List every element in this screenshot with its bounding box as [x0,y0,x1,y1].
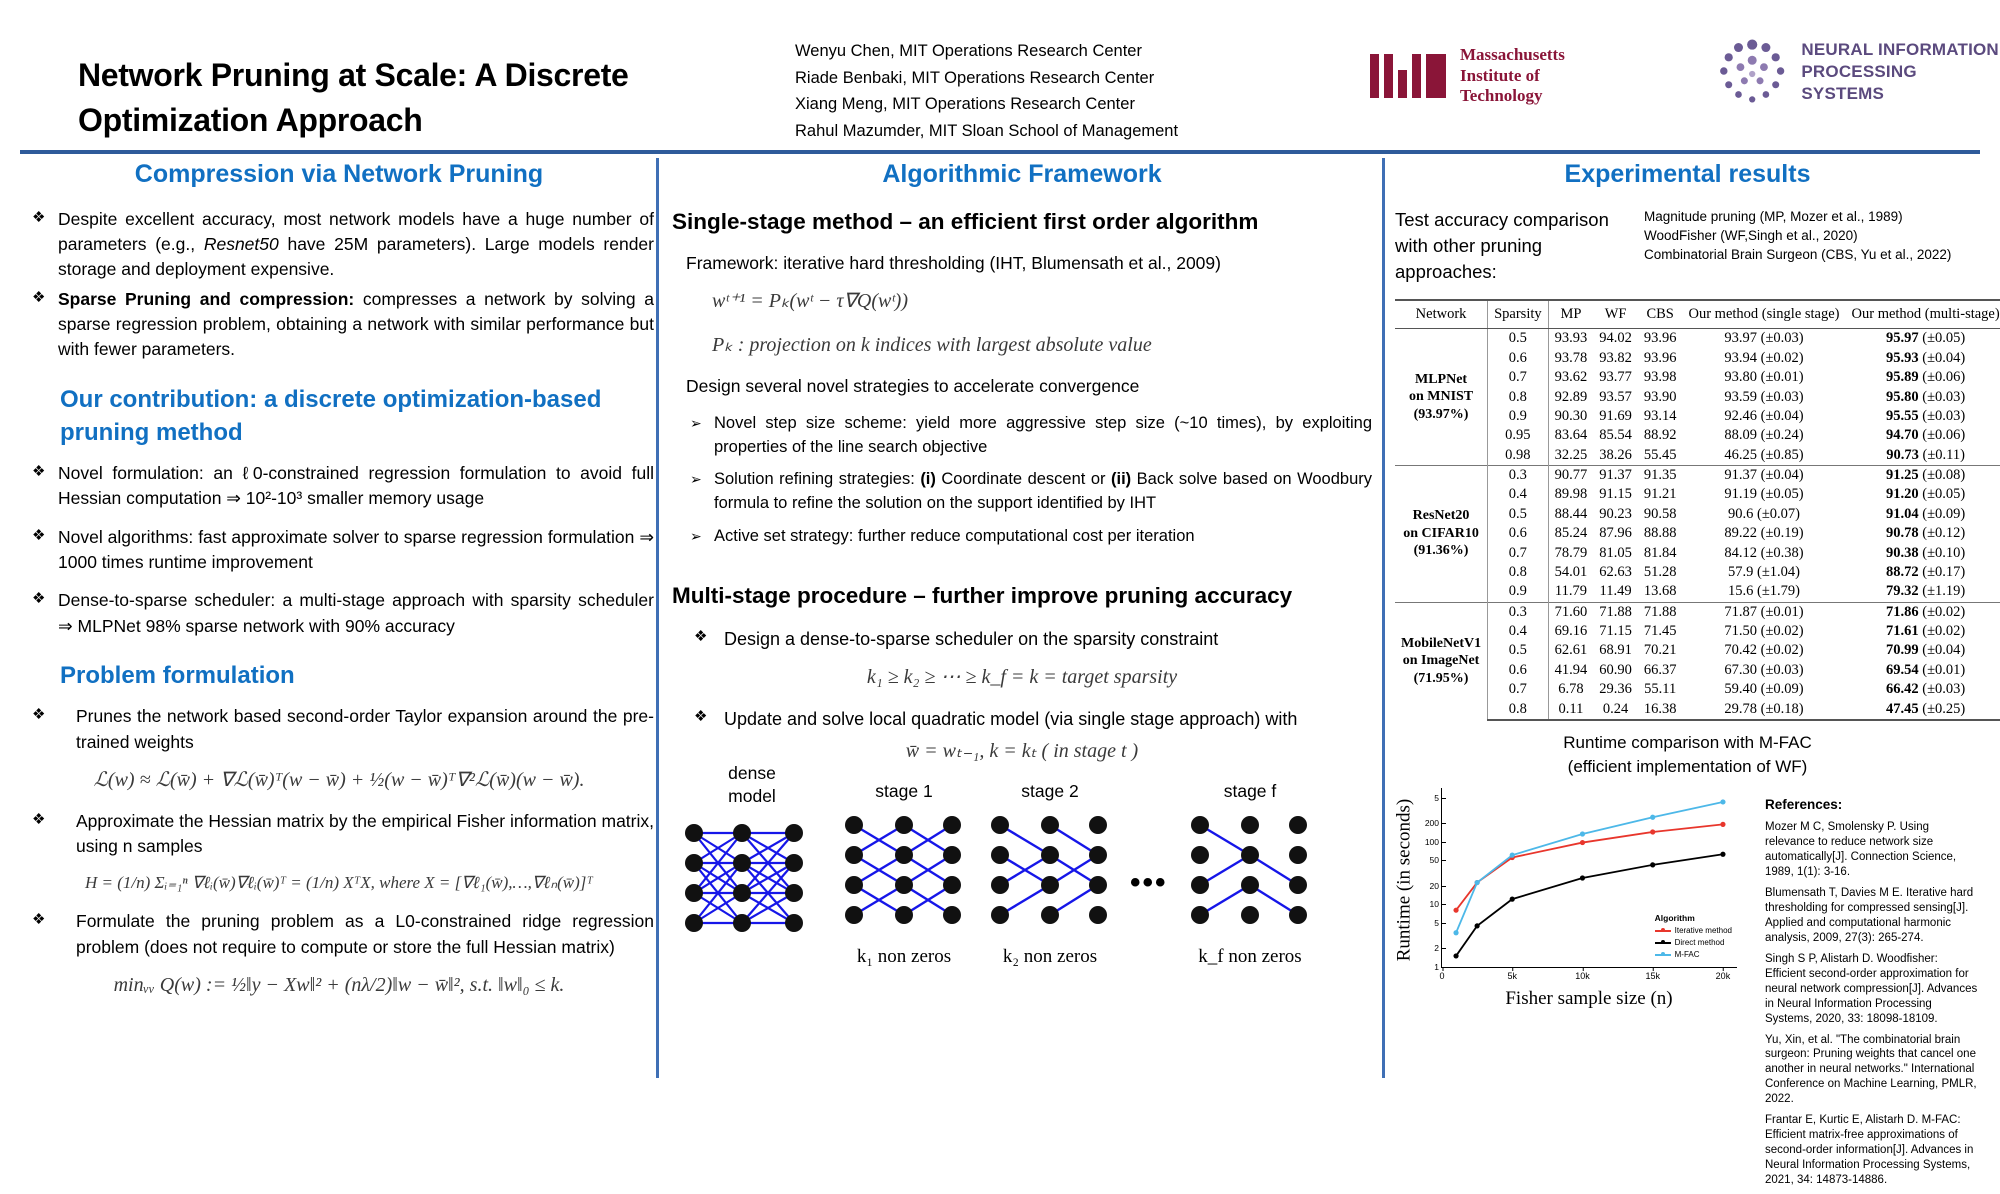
table-cell: 70.21 [1638,641,1683,660]
table-cell: 93.90 [1638,387,1683,406]
contribution-heading: Our contribution: a discrete optimizatio… [24,383,654,449]
list-item: Dense-to-sparse scheduler: a multi-stage… [24,588,654,639]
equation-scheduler: k₁ ≥ k₂ ≥ ⋯ ≥ k_f = k = target sparsity [672,662,1372,692]
multi-stage-bullets: Design a dense-to-sparse scheduler on th… [672,626,1372,652]
table-cell: 90.58 [1638,505,1683,524]
col-sparsity: Sparsity [1488,300,1549,329]
single-stage-heading: Single-stage method – an efficient first… [672,207,1372,237]
chart-plot-area: 125102050100200505k10k15k20kAlgorithmIte… [1441,788,1737,968]
author-line: Rahul Mazumder, MIT Sloan School of Mana… [795,118,1195,145]
mit-logo: Massachusetts Institute of Technology [1370,45,1565,107]
table-cell: 0.7 [1488,680,1549,699]
legend-label: Direct method [1675,937,1725,949]
diagram-cell-stage-f: stage f k_f non zeros [1180,780,1320,968]
table-cell: 87.96 [1593,524,1638,543]
table-cell: 0.24 [1593,699,1638,719]
table-cell: 85.24 [1548,524,1593,543]
table-cell: 92.46 (±0.04) [1683,407,1846,426]
table-cell: 95.97 (±0.05) [1846,329,2000,349]
table-cell: 0.3 [1488,602,1549,622]
col-wf: WF [1593,300,1638,329]
problem-bullets: Prunes the network based second-order Ta… [24,704,654,755]
legend-item: Iterative method [1655,925,1732,937]
table-cell: 6.78 [1548,680,1593,699]
table-cell: 78.79 [1548,543,1593,562]
equation-iht: wᵗ⁺¹ = Pₖ(wᵗ − τ∇Q(wᵗ)) [672,286,1372,316]
table-cell: 71.87 (±0.01) [1683,602,1846,622]
cell-network: MLPNeton MNIST(93.97%) [1395,329,1488,466]
multi-stage-bullets-2: Update and solve local quadratic model (… [672,706,1372,732]
stagef-network-icon [1180,807,1320,937]
list-item: Active set strategy: further reduce comp… [686,525,1372,549]
table-cell: 71.61 (±0.02) [1846,622,2000,641]
list-item: Solution refining strategies: (i) Coordi… [686,468,1372,516]
list-item: Approximate the Hessian matrix by the em… [24,809,654,860]
table-cell: 47.45 (±0.25) [1846,699,2000,719]
table-cell: 93.78 [1548,349,1593,368]
table-cell: 0.5 [1488,641,1549,660]
list-item: Despite excellent accuracy, most network… [24,207,654,283]
mit-line-3: Technology [1460,86,1565,107]
table-cell: 83.64 [1548,426,1593,445]
table-cell: 71.88 [1593,602,1638,622]
table-cell: 71.88 [1638,602,1683,622]
table-cell: 90.77 [1548,465,1593,485]
chart-legend: AlgorithmIterative methodDirect methodM-… [1652,910,1735,964]
table-cell: 95.55 (±0.03) [1846,407,2000,426]
table-cell: 68.91 [1593,641,1638,660]
legend-label: M-FAC [1675,949,1700,961]
chart-xtick: 15k [1645,967,1660,981]
list-item: Update and solve local quadratic model (… [672,706,1372,732]
mit-line-2: Institute of [1460,66,1565,87]
table-cell: 89.98 [1548,485,1593,504]
table-cell: 94.70 (±0.06) [1846,426,2000,445]
chart-ytick: 2 [1434,943,1442,953]
table-cell: 90.73 (±0.11) [1846,446,2000,466]
section-title-results: Experimental results [1395,158,1980,191]
compression-bullets: Despite excellent accuracy, most network… [24,207,654,363]
table-cell: 93.97 (±0.03) [1683,329,1846,349]
table-cell: 95.89 (±0.06) [1846,368,2000,387]
legend-swatch [1655,954,1671,956]
problem-bullets-3: Formulate the pruning problem as a L0-co… [24,909,654,960]
table-cell: 93.96 [1638,349,1683,368]
column-divider-1 [656,158,659,1078]
table-cell: 85.54 [1593,426,1638,445]
legend-swatch [1655,942,1671,944]
stage-diagram: densemodel [672,780,1372,1010]
table-cell: 93.93 [1548,329,1593,349]
table-cell: 90.78 (±0.12) [1846,524,2000,543]
table-cell: 95.93 (±0.04) [1846,349,2000,368]
table-header-row: Network Sparsity MP WF CBS Our method (s… [1395,300,2000,329]
dense-network-icon [672,811,832,951]
table-cell: 66.37 [1638,661,1683,680]
author-line: Wenyu Chen, MIT Operations Research Cent… [795,38,1195,65]
list-item: Novel step size scheme: yield more aggre… [686,412,1372,460]
col-cbs: CBS [1638,300,1683,329]
table-cell: 55.45 [1638,446,1683,466]
contribution-bullets: Novel formulation: an ℓ0-constrained reg… [24,461,654,639]
col-ours-single: Our method (single stage) [1683,300,1846,329]
table-cell: 88.92 [1638,426,1683,445]
table-cell: 0.6 [1488,524,1549,543]
reference-item: Yu, Xin, et al. "The combinatorial brain… [1765,1033,1980,1108]
table-cell: 91.04 (±0.09) [1846,505,2000,524]
table-cell: 93.94 (±0.02) [1683,349,1846,368]
reference-item: Blumensath T, Davies M E. Iterative hard… [1765,886,1980,946]
table-cell: 0.8 [1488,699,1549,719]
table-cell: 88.44 [1548,505,1593,524]
chart-xtick: 20k [1716,967,1731,981]
chart-ytick: 5 [1434,918,1442,928]
table-cell: 71.60 [1548,602,1593,622]
author-line: Xiang Meng, MIT Operations Research Cent… [795,91,1195,118]
problem-bullets-2: Approximate the Hessian matrix by the em… [24,809,654,860]
column-algorithmic-framework: Algorithmic Framework Single-stage metho… [672,158,1372,1118]
neurips-line-1: NEURAL INFORMATION [1801,39,2000,61]
table-cell: 29.78 (±0.18) [1683,699,1846,719]
table-cell: 29.36 [1593,680,1638,699]
table-cell: 0.3 [1488,465,1549,485]
table-cell: 0.8 [1488,387,1549,406]
table-cell: 0.98 [1488,446,1549,466]
table-cell: 70.42 (±0.02) [1683,641,1846,660]
mit-line-1: Massachusetts [1460,45,1565,66]
table-cell: 91.19 (±0.05) [1683,485,1846,504]
col-mp: MP [1548,300,1593,329]
table-cell: 46.25 (±0.85) [1683,446,1846,466]
diagram-cell-stage-1: stage 1 k₁ no [834,780,974,968]
table-cell: 90.38 (±0.10) [1846,543,2000,562]
diagram-label: stage 2 [980,780,1120,803]
table-cell: 0.4 [1488,485,1549,504]
header-divider [20,150,1980,154]
chart-and-references: Runtime (in seconds) 125102050100200505k… [1395,782,1980,1194]
table-cell: 91.37 [1593,465,1638,485]
list-item: Design a dense-to-sparse scheduler on th… [672,626,1372,652]
table-cell: 92.89 [1548,387,1593,406]
table-cell: 55.11 [1638,680,1683,699]
chart-ytick: 5 [1434,793,1442,803]
table-cell: 59.40 (±0.09) [1683,680,1846,699]
table-cell: 91.15 [1593,485,1638,504]
equation-projection: Pₖ : projection on k indices with larges… [672,330,1372,360]
table-cell: 69.16 [1548,622,1593,641]
table-cell: 93.14 [1638,407,1683,426]
table-cell: 62.63 [1593,563,1638,582]
table-cell: 90.30 [1548,407,1593,426]
problem-formulation-heading: Problem formulation [24,659,654,692]
diagram-caption: k₁ non zeros [834,946,974,968]
chart-ytick: 50 [1430,855,1442,865]
design-strategies-line: Design several novel strategies to accel… [672,374,1372,399]
table-cell: 93.77 [1593,368,1638,387]
table-cell: 0.7 [1488,543,1549,562]
accuracy-table: Network Sparsity MP WF CBS Our method (s… [1395,299,2000,721]
table-cell: 91.69 [1593,407,1638,426]
table-cell: 54.01 [1548,563,1593,582]
table-cell: 91.20 (±0.05) [1846,485,2000,504]
table-cell: 67.30 (±0.03) [1683,661,1846,680]
table-cell: 0.6 [1488,661,1549,680]
baseline-item: WoodFisher (WF,Singh et al., 2020) [1644,226,1951,245]
table-cell: 70.99 (±0.04) [1846,641,2000,660]
col-ours-multi: Our method (multi-stage) [1846,300,2000,329]
table-cell: 69.54 (±0.01) [1846,661,2000,680]
table-cell: 0.5 [1488,329,1549,349]
chart-ytick: 100 [1425,837,1442,847]
table-cell: 0.7 [1488,368,1549,387]
table-cell: 0.9 [1488,582,1549,602]
table-cell: 84.12 (±0.38) [1683,543,1846,562]
table-cell: 93.57 [1593,387,1638,406]
chart-xtick: 10k [1575,967,1590,981]
table-cell: 94.02 [1593,329,1638,349]
table-cell: 11.49 [1593,582,1638,602]
legend-swatch [1655,930,1671,932]
table-cell: 91.37 (±0.04) [1683,465,1846,485]
diagram-caption: k₂ non zeros [980,946,1120,968]
table-cell: 0.4 [1488,622,1549,641]
legend-label: Iterative method [1675,925,1732,937]
table-cell: 71.45 [1638,622,1683,641]
table-cell: 91.35 [1638,465,1683,485]
legend-item: Direct method [1655,937,1732,949]
list-item: Novel formulation: an ℓ0-constrained reg… [24,461,654,512]
chart-ytick: 200 [1425,818,1442,828]
table-cell: 91.21 [1638,485,1683,504]
section-title-framework: Algorithmic Framework [672,158,1372,191]
list-item: Novel algorithms: fast approximate solve… [24,525,654,576]
poster-header: Network Pruning at Scale: A Discrete Opt… [0,0,2000,152]
diagram-ellipsis: ••• [1130,866,1168,900]
reference-item: Mozer M C, Smolensky P. Using relevance … [1765,820,1980,880]
table-row: ResNet20on CIFAR10(91.36%)0.390.7791.379… [1395,465,2000,485]
list-item: Prunes the network based second-order Ta… [24,704,654,755]
table-cell: 71.50 (±0.02) [1683,622,1846,641]
table-cell: 0.8 [1488,563,1549,582]
table-row: MLPNeton MNIST(93.97%)0.593.9394.0293.96… [1395,329,2000,349]
table-caption-block: Test accuracy comparison with other prun… [1395,207,1980,286]
baseline-item: Magnitude pruning (MP, Mozer et al., 198… [1644,207,1951,226]
list-item: Formulate the pruning problem as a L0-co… [24,909,654,960]
cell-network: ResNet20on CIFAR10(91.36%) [1395,465,1488,602]
reference-item: Frantar E, Kurtic E, Alistarh D. M-FAC: … [1765,1113,1980,1188]
table-cell: 93.98 [1638,368,1683,387]
table-cell: 95.80 (±0.03) [1846,387,2000,406]
table-cell: 93.96 [1638,329,1683,349]
legend-title: Algorithm [1655,912,1732,925]
baseline-item: Combinatorial Brain Surgeon (CBS, Yu et … [1644,245,1951,264]
table-cell: 11.79 [1548,582,1593,602]
column-divider-2 [1382,158,1385,1078]
table-cell: 81.05 [1593,543,1638,562]
table-cell: 60.90 [1593,661,1638,680]
page-title: Network Pruning at Scale: A Discrete Opt… [78,53,648,141]
column-experimental-results: Experimental results Test accuracy compa… [1395,158,1980,1118]
diagram-label: stage 1 [834,780,974,803]
strategy-bullets: Novel step size scheme: yield more aggre… [672,412,1372,550]
table-row: MobileNetV1on ImageNet(71.95%)0.371.6071… [1395,602,2000,622]
table-cell: 0.9 [1488,407,1549,426]
legend-item: M-FAC [1655,949,1732,961]
col-network: Network [1395,300,1488,329]
table-cell: 32.25 [1548,446,1593,466]
references-heading: References: [1765,797,1842,812]
runtime-caption: Runtime comparison with M-FAC(efficient … [1395,731,1980,779]
chart-xtick: 0 [1439,967,1444,981]
table-cell: 57.9 (±1.04) [1683,563,1846,582]
chart-ytick: 20 [1430,881,1442,891]
author-line: Riade Benbaki, MIT Operations Research C… [795,65,1195,92]
table-cell: 51.28 [1638,563,1683,582]
diagram-label: densemodel [672,762,832,808]
baseline-list: Magnitude pruning (MP, Mozer et al., 198… [1644,207,1951,264]
table-cell: 66.42 (±0.03) [1846,680,2000,699]
table-cell: 88.88 [1638,524,1683,543]
table-cell: 62.61 [1548,641,1593,660]
mit-wordmark: Massachusetts Institute of Technology [1460,45,1565,107]
multi-stage-heading: Multi-stage procedure – further improve … [672,581,1372,611]
diagram-label: stage f [1180,780,1320,803]
framework-line: Framework: iterative hard thresholding (… [672,251,1372,276]
diagram-caption: k_f non zeros [1180,946,1320,968]
mit-bars-icon [1370,54,1446,98]
table-cell: 88.72 (±0.17) [1846,563,2000,582]
cell-network: MobileNetV1on ImageNet(71.95%) [1395,602,1488,720]
neurips-logo: NEURAL INFORMATION PROCESSING SYSTEMS [1715,34,2000,110]
neurips-swirl-icon [1715,34,1789,110]
table-cell: 88.09 (±0.24) [1683,426,1846,445]
diagram-cell-stage-2: stage 2 k₂ non zeros [980,780,1120,968]
table-cell: 16.38 [1638,699,1683,719]
table-cell: 91.25 (±0.08) [1846,465,2000,485]
table-caption: Test accuracy comparison with other prun… [1395,207,1630,286]
table-cell: 0.11 [1548,699,1593,719]
chart-xlabel: Fisher sample size (n) [1441,988,1737,1010]
equation-objective: minᵥᵥ Q(w) := ½‖y − Xw‖² + (nλ/2)‖w − w̄… [24,970,654,1000]
neurips-wordmark: NEURAL INFORMATION PROCESSING SYSTEMS [1801,39,2000,105]
table-cell: 15.6 (±1.79) [1683,582,1846,602]
list-item: Sparse Pruning and compression: compress… [24,287,654,363]
references-block: References: Mozer M C, Smolensky P. Usin… [1765,782,1980,1194]
table-cell: 71.15 [1593,622,1638,641]
table-cell: 93.80 (±0.01) [1683,368,1846,387]
table-cell: 90.6 (±0.07) [1683,505,1846,524]
chart-ylabel: Runtime (in seconds) [1391,782,1417,978]
table-cell: 93.62 [1548,368,1593,387]
equation-fisher: H = (1/n) Σᵢ₌₁ⁿ ∇ℓᵢ(w̄)∇ℓᵢ(w̄)ᵀ = (1/n) … [24,870,654,896]
author-list: Wenyu Chen, MIT Operations Research Cent… [795,38,1195,145]
table-cell: 13.68 [1638,582,1683,602]
table-cell: 0.5 [1488,505,1549,524]
section-title-compression: Compression via Network Pruning [24,158,654,191]
table-cell: 79.32 (±1.19) [1846,582,2000,602]
table-cell: 90.23 [1593,505,1638,524]
chart-xtick: 5k [1507,967,1517,981]
chart-ytick: 10 [1430,899,1442,909]
runtime-chart: Runtime (in seconds) 125102050100200505k… [1395,782,1755,1014]
column-compression: Compression via Network Pruning Despite … [24,158,654,1118]
poster-body: Compression via Network Pruning Despite … [0,158,2000,1118]
stage2-network-icon [980,807,1120,937]
neurips-line-2: PROCESSING SYSTEMS [1801,61,2000,105]
table-cell: 93.59 (±0.03) [1683,387,1846,406]
equation-taylor: ℒ(w) ≈ ℒ(w̄) + ∇ℒ(w̄)ᵀ(w − w̄) + ½(w − w… [24,765,654,795]
stage1-network-icon [834,807,974,937]
reference-item: Singh S P, Alistarh D. Woodfisher: Effic… [1765,952,1980,1027]
table-cell: 93.82 [1593,349,1638,368]
table-cell: 0.6 [1488,349,1549,368]
table-cell: 0.95 [1488,426,1549,445]
diagram-cell-dense: densemodel [672,762,832,957]
table-cell: 71.86 (±0.02) [1846,602,2000,622]
table-cell: 89.22 (±0.19) [1683,524,1846,543]
table-cell: 81.84 [1638,543,1683,562]
table-cell: 38.26 [1593,446,1638,466]
table-cell: 41.94 [1548,661,1593,680]
